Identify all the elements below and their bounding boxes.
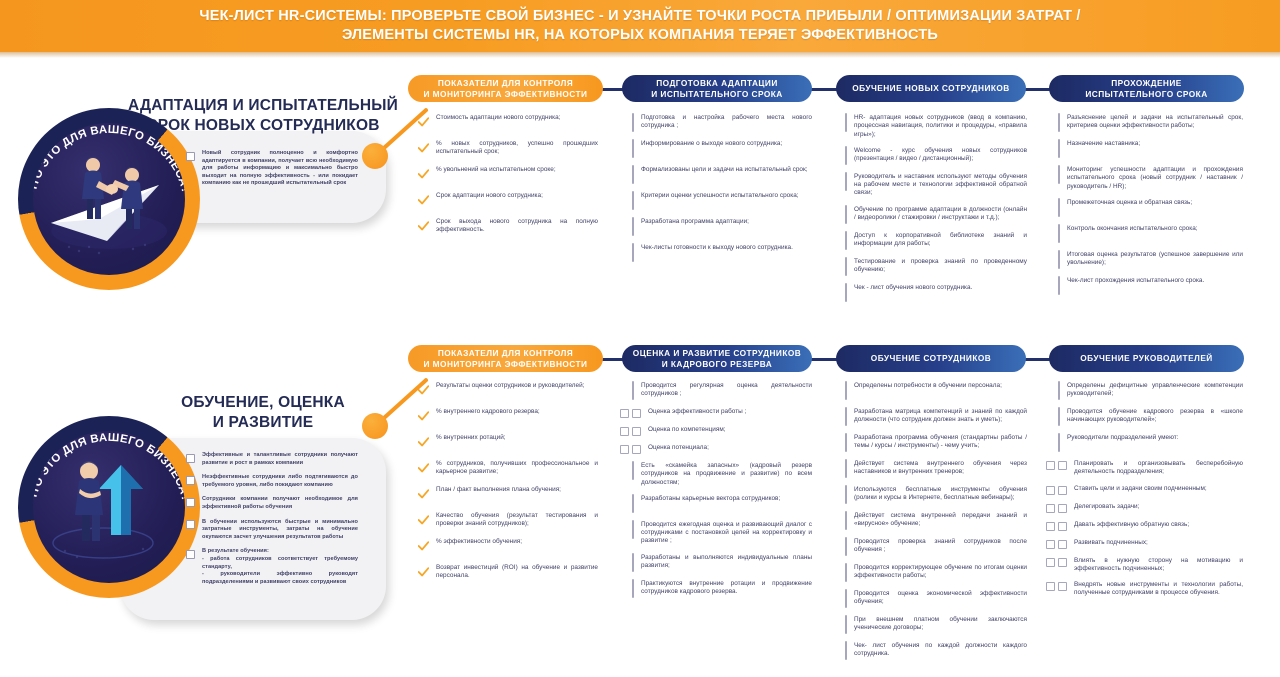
checkbox-icon[interactable] (1046, 522, 1055, 531)
checkbox-icon[interactable] (845, 205, 847, 224)
checklist-item-label: Планировать и организовывать бесперебойн… (1074, 460, 1243, 477)
checkbox-icon[interactable] (845, 460, 847, 478)
checkbox-icon[interactable] (1058, 408, 1060, 426)
checkbox-icon[interactable] (186, 550, 195, 559)
check-icon (418, 437, 429, 447)
summary-text: В результате обучения: - работа сотрудни… (202, 548, 358, 586)
checkbox-pair-icon[interactable] (620, 444, 641, 454)
checkbox-icon[interactable] (1058, 461, 1067, 470)
list-item[interactable]: Эффективные и талантливые сотрудники пол… (186, 452, 358, 467)
checklist-item-label: Влиять в нужную сторону на мотивацию и э… (1074, 557, 1243, 574)
checklist-item[interactable]: Разработана программа обучения (стандарт… (845, 434, 1027, 452)
checkbox-icon[interactable] (1058, 522, 1067, 531)
checklist-item[interactable]: Определены потребности в обучении персон… (845, 382, 1027, 400)
list-item[interactable]: Сотрудники компании получают необходимое… (186, 496, 358, 511)
checklist-item[interactable]: Планировать и организовывать бесперебойн… (1046, 460, 1243, 477)
checkbox-icon[interactable] (632, 495, 634, 513)
checklist-item-label: % внутреннего кадрового резерва; (436, 408, 540, 416)
checkbox-icon[interactable] (845, 434, 847, 452)
checkbox-icon[interactable] (632, 521, 634, 539)
checkbox-icon[interactable] (632, 554, 634, 572)
checkbox-icon[interactable] (845, 408, 847, 426)
column-header-assessment: ОЦЕНКА И РАЗВИТИЕ СОТРУДНИКОВ И КАДРОВОГ… (622, 345, 812, 372)
checklist-item[interactable]: Ставить цели и задачи своим подчиненным; (1046, 485, 1243, 495)
checklist-item-label: Оценка эффективности работы ; (648, 408, 746, 416)
checklist-column-employee-training: Определены потребности в обучении персон… (845, 382, 1027, 668)
checkbox-pair-icon[interactable] (1046, 581, 1067, 591)
checklist-item[interactable]: Разработаны карьерные вектора сотруднико… (632, 495, 812, 513)
checklist-item[interactable]: HR- адаптация новых сотрудников (ввод в … (845, 114, 1027, 139)
checkbox-icon[interactable] (845, 642, 847, 660)
header-line-1: ПОКАЗАТЕЛИ ДЛЯ КОНТРОЛЯ (424, 78, 588, 89)
checklist-item[interactable]: Есть «скамейка запасных» (кадровый резер… (632, 462, 812, 487)
checkbox-icon[interactable] (1058, 504, 1067, 513)
checkbox-icon[interactable] (845, 485, 847, 504)
checklist-item[interactable]: При внешнем платном обучении заключаются… (845, 616, 1027, 634)
checkbox-icon[interactable] (845, 407, 847, 426)
checklist-item-label: Оценка по компетенциям; (648, 426, 726, 434)
header-line-1: ОБУЧЕНИЕ СОТРУДНИКОВ (871, 353, 991, 364)
handshake-illustration-icon (33, 123, 185, 275)
checkbox-icon[interactable] (1058, 198, 1060, 217)
checklist-item[interactable]: Чек - лист обучения нового сотрудника. (845, 284, 1027, 302)
checklist-item[interactable]: Оценка эффективности работы ; (620, 408, 812, 418)
header-line-1: ПРОХОЖДЕНИЕ (1085, 78, 1207, 89)
checklist-item-label: Контроль окончания испытательного срока; (1067, 225, 1198, 233)
checklist-item[interactable]: Welcome - курс обучения новых сотруднико… (845, 147, 1027, 165)
checkbox-icon[interactable] (1058, 277, 1060, 295)
checkbox-icon[interactable] (620, 445, 629, 454)
checklist-item-label: Делегировать задачи; (1074, 503, 1139, 511)
checklist-item-label: Назначение наставника; (1067, 140, 1140, 148)
checklist-item[interactable]: Проводится проверка знаний сотрудников п… (845, 538, 1027, 556)
checkbox-icon[interactable] (632, 461, 634, 480)
checklist-item[interactable]: Назначение наставника; (1058, 140, 1243, 158)
check-icon[interactable] (418, 218, 429, 236)
checkbox-icon[interactable] (1058, 251, 1060, 269)
checkbox-icon[interactable] (632, 139, 634, 158)
checklist-item-label: Проводится оценка экономической эффектив… (854, 590, 1027, 607)
checkbox-pair-icon[interactable] (1046, 485, 1067, 495)
checkbox-icon[interactable] (1058, 224, 1060, 243)
checkbox-icon[interactable] (845, 486, 847, 504)
checklist-item[interactable]: % увольнений на испытательном сроке; (418, 166, 598, 184)
checkbox-icon[interactable] (1058, 166, 1060, 184)
header-line-1: ОЦЕНКА И РАЗВИТИЕ СОТРУДНИКОВ (633, 348, 801, 359)
checklist-item-label: % сотрудников, получивших профессиональн… (436, 460, 598, 477)
checkbox-icon[interactable] (1058, 199, 1060, 217)
checklist-item-label: Чек-лист прохождения испытательного срок… (1067, 277, 1204, 285)
checklist-item[interactable]: Критерии оценки успешности испытательног… (632, 192, 812, 210)
checkbox-icon[interactable] (632, 462, 634, 480)
checklist-item[interactable]: Разработана программа адаптации; (632, 218, 812, 236)
checklist-item[interactable]: Результаты оценки сотрудников и руководи… (418, 382, 598, 400)
checkbox-icon[interactable] (845, 206, 847, 224)
checklist-column-assessment: Проводится регулярная оценка деятельност… (632, 382, 812, 606)
checkbox-icon[interactable] (845, 232, 847, 250)
checklist-item-label: Проводится регулярная оценка деятельност… (641, 382, 812, 399)
checkbox-icon[interactable] (1058, 381, 1060, 400)
checklist-item[interactable]: Контроль окончания испытательного срока; (1058, 225, 1243, 243)
checkbox-icon[interactable] (632, 520, 634, 539)
checklist-item[interactable]: Обучение по программе адаптации в должно… (845, 206, 1027, 224)
checklist-item-label: Действует система внутреннего обучения ч… (854, 460, 1027, 477)
checkbox-icon[interactable] (1058, 558, 1067, 567)
checkbox-icon[interactable] (186, 152, 195, 161)
checkbox-icon[interactable] (1046, 540, 1055, 549)
column-header-manager-training: ОБУЧЕНИЕ РУКОВОДИТЕЛЕЙ (1049, 345, 1244, 372)
checkbox-icon[interactable] (845, 114, 847, 132)
checkbox-icon[interactable] (1058, 165, 1060, 184)
check-icon[interactable] (418, 460, 429, 478)
checklist-item-label: % эффективности обучения; (436, 538, 522, 546)
badge-inner: ЧТО ЭТО ДЛЯ ВАШЕГО БИЗНЕСА? ОБЛАСТЬ РОСТ… (33, 123, 185, 275)
checklist-item-label: Руководители подразделений умеют: (1067, 434, 1179, 442)
badge-profit-growth-development: ЧТО ЭТО ДЛЯ ВАШЕГО БИЗНЕСА? ОБЛАСТЬ РОСТ… (18, 416, 200, 598)
checklist-item-label: План / факт выполнения плана обучения; (436, 486, 561, 494)
checkbox-icon[interactable] (632, 494, 634, 513)
checkbox-icon[interactable] (1046, 558, 1055, 567)
checklist-item[interactable]: План / факт выполнения плана обучения; (418, 486, 598, 504)
checkbox-icon[interactable] (632, 165, 634, 184)
list-item[interactable]: В результате обучения: - работа сотрудни… (186, 548, 358, 586)
checkbox-icon[interactable] (845, 284, 847, 302)
checkbox-icon[interactable] (845, 231, 847, 250)
checklist-item[interactable]: Делегировать задачи; (1046, 503, 1243, 513)
checklist-item[interactable]: Действует система внутренней передачи зн… (845, 512, 1027, 530)
checklist-item-label: Подготовка и настройка рабочего места но… (641, 114, 812, 131)
checkbox-icon[interactable] (632, 113, 634, 132)
check-icon (418, 463, 429, 473)
checkbox-icon[interactable] (1058, 139, 1060, 158)
checkbox-icon[interactable] (1058, 225, 1060, 243)
checklist-item[interactable]: Подготовка и настройка рабочего места но… (632, 114, 812, 132)
checkbox-pair-icon[interactable] (1046, 460, 1067, 470)
checklist-item-label: Итоговая оценка результатов (успешное за… (1067, 251, 1243, 268)
checklist-item[interactable]: % внутреннего кадрового резерва; (418, 408, 598, 426)
checklist-item-label: Чек - лист обучения нового сотрудника. (854, 284, 972, 292)
checklist-item[interactable]: Срок адаптации нового сотрудника; (418, 192, 598, 210)
checkbox-icon[interactable] (1058, 140, 1060, 158)
column-header-probation: ПРОХОЖДЕНИЕ ИСПЫТАТЕЛЬНОГО СРОКА (1049, 75, 1244, 102)
checkbox-icon[interactable] (186, 520, 195, 529)
banner-line-1: ЧЕК-ЛИСТ HR-СИСТЕМЫ: ПРОВЕРЬТЕ СВОЙ БИЗН… (65, 7, 1215, 26)
checklist-item-label: Оценка потенциала; (648, 444, 709, 452)
checklist-item[interactable]: Руководители подразделений умеют: (1058, 434, 1243, 452)
checkbox-pair-icon[interactable] (620, 426, 641, 436)
checkbox-icon[interactable] (632, 191, 634, 210)
checklist-item[interactable]: Действует система внутреннего обучения ч… (845, 460, 1027, 478)
checklist-item[interactable]: Мониторинг успешности адаптации и прохож… (1058, 166, 1243, 191)
check-icon (418, 515, 429, 525)
checkbox-icon[interactable] (845, 616, 847, 634)
checkbox-icon[interactable] (1058, 434, 1060, 452)
checkbox-icon[interactable] (632, 580, 634, 598)
check-icon[interactable] (418, 192, 429, 210)
checklist-column-training-new: HR- адаптация новых сотрудников (ввод в … (845, 114, 1027, 310)
checkbox-icon[interactable] (845, 382, 847, 400)
checkbox-icon[interactable] (620, 427, 629, 436)
checkbox-icon[interactable] (632, 217, 634, 236)
checklist-item[interactable]: Проводится обучение кадрового резерва в … (1058, 408, 1243, 426)
check-icon (418, 489, 429, 499)
checklist-item-label: Качество обучения (результат тестировани… (436, 512, 598, 529)
checklist-item-label: Проводится обучение кадрового резерва в … (1067, 408, 1243, 425)
checklist-item[interactable]: Формализованы цели и задачи на испытател… (632, 166, 812, 184)
checklist-column-probation: Разъяснение целей и задачи на испытатель… (1058, 114, 1243, 303)
checklist-item-label: Срок выхода нового сотрудника на полную … (436, 218, 598, 235)
banner-line-2: ЭЛЕМЕНТЫ СИСТЕМЫ HR, НА КОТОРЫХ КОМПАНИЯ… (65, 26, 1215, 45)
check-icon[interactable] (418, 538, 429, 556)
checkbox-icon[interactable] (845, 589, 847, 608)
header-line-2: ИСПЫТАТЕЛЬНОГО СРОКА (1085, 89, 1207, 100)
checkbox-icon[interactable] (1058, 382, 1060, 400)
checkbox-icon[interactable] (1046, 582, 1055, 591)
checklist-item-label: Руководитель и наставник используют мето… (854, 173, 1027, 198)
check-icon (418, 143, 429, 153)
checklist-item-label: Доступ к корпоративной библиотеке знаний… (854, 232, 1027, 249)
checkbox-icon[interactable] (632, 218, 634, 236)
check-icon (418, 169, 429, 179)
checklist-item[interactable]: Стоимость адаптации нового сотрудника; (418, 114, 598, 132)
banner-text: ЧЕК-ЛИСТ HR-СИСТЕМЫ: ПРОВЕРЬТЕ СВОЙ БИЗН… (65, 7, 1215, 45)
checkbox-icon[interactable] (632, 166, 634, 184)
checklist-item[interactable]: Разъяснение целей и задачи на испытатель… (1058, 114, 1243, 132)
list-item[interactable]: В обучении используются быстрые и минима… (186, 519, 358, 542)
checkbox-icon[interactable] (1058, 433, 1060, 452)
banner-shadow (0, 52, 1280, 58)
checklist-item[interactable]: Определены дефицитные управленческие ком… (1058, 382, 1243, 400)
checkbox-icon[interactable] (845, 283, 847, 302)
checklist-item[interactable]: Итоговая оценка результатов (успешное за… (1058, 251, 1243, 269)
header-line-2: И ИСПЫТАТЕЛЬНОГО СРОКА (651, 89, 782, 100)
checkbox-icon[interactable] (632, 243, 634, 262)
column-header-kpi-adaptation: ПОКАЗАТЕЛИ ДЛЯ КОНТРОЛЯ И МОНИТОРИНГА ЭФ… (408, 75, 603, 102)
check-icon[interactable] (418, 140, 429, 158)
checklist-item[interactable]: Практикуются внутренние ротации и продви… (632, 580, 812, 598)
checklist-item[interactable]: Разработаны и выполняются индивидуальные… (632, 554, 812, 572)
list-item[interactable]: Новый сотрудник полноценно и комфортно а… (186, 150, 358, 188)
checklist-item-label: Срок адаптации нового сотрудника; (436, 192, 543, 200)
checkbox-icon[interactable] (632, 140, 634, 158)
checkbox-icon[interactable] (845, 433, 847, 452)
checkbox-icon[interactable] (845, 173, 847, 191)
checkbox-icon[interactable] (845, 258, 847, 276)
checklist-item[interactable]: Чек-лист прохождения испытательного срок… (1058, 277, 1243, 295)
checkbox-icon[interactable] (845, 146, 847, 165)
checkbox-icon[interactable] (845, 381, 847, 400)
checklist-item[interactable]: % эффективности обучения; (418, 538, 598, 556)
checklist-item-label: Тестирование и проверка знаний по провед… (854, 258, 1027, 275)
header-line-1: ПОДГОТОВКА АДАПТАЦИИ (651, 78, 782, 89)
checklist-column-manager-training: Определены дефицитные управленческие ком… (1058, 382, 1243, 606)
checkbox-icon[interactable] (632, 553, 634, 572)
column-header-employee-training: ОБУЧЕНИЕ СОТРУДНИКОВ (836, 345, 1026, 372)
checkbox-icon[interactable] (632, 445, 641, 454)
checkbox-icon[interactable] (1058, 113, 1060, 132)
checklist-item-label: Ставить цели и задачи своим подчиненным; (1074, 485, 1207, 493)
checkbox-icon[interactable] (620, 409, 629, 418)
column-header-preparation: ПОДГОТОВКА АДАПТАЦИИ И ИСПЫТАТЕЛЬНОГО СР… (622, 75, 812, 102)
summary-text: Неэффективные сотрудники либо подтягиваю… (202, 474, 358, 489)
checklist-item-label: HR- адаптация новых сотрудников (ввод в … (854, 114, 1027, 139)
checklist-item[interactable]: Разработана матрица компетенций и знаний… (845, 408, 1027, 426)
check-icon[interactable] (418, 166, 429, 184)
checkbox-icon[interactable] (845, 615, 847, 634)
check-icon[interactable] (418, 486, 429, 504)
checklist-item[interactable]: Качество обучения (результат тестировани… (418, 512, 598, 530)
checklist-item-label: Результаты оценки сотрудников и руководи… (436, 382, 585, 390)
checkbox-pair-icon[interactable] (1046, 521, 1067, 531)
checklist-item-label: При внешнем платном обучении заключаются… (854, 616, 1027, 633)
checkbox-icon[interactable] (632, 382, 634, 400)
checkbox-icon[interactable] (632, 244, 634, 262)
check-icon[interactable] (418, 512, 429, 530)
checkbox-icon[interactable] (845, 538, 847, 556)
checkbox-icon[interactable] (845, 537, 847, 556)
checkbox-icon[interactable] (845, 564, 847, 582)
checklist-item[interactable]: Руководитель и наставник используют мето… (845, 173, 1027, 198)
checklist-item[interactable]: Развивать подчиненных; (1046, 539, 1243, 549)
checklist-item[interactable]: Внедрять новые инструменты и технологии … (1046, 581, 1243, 598)
checkbox-icon[interactable] (845, 511, 847, 530)
checklist-item-label: Давать эффективную обратную связь; (1074, 521, 1189, 529)
checkbox-icon[interactable] (186, 476, 195, 485)
checklist-item-label: Проводится корректирующее обучение по ит… (854, 564, 1027, 581)
pill-connector-2 (808, 88, 838, 91)
list-item[interactable]: Неэффективные сотрудники либо подтягиваю… (186, 474, 358, 489)
summary-text: В обучении используются быстрые и минима… (202, 519, 358, 542)
checklist-column-preparation: Подготовка и настройка рабочего места но… (632, 114, 812, 270)
checkbox-icon[interactable] (1058, 582, 1067, 591)
checklist-item[interactable]: Промежеточная оценка и обратная связь; (1058, 199, 1243, 217)
checklist-item-label: Промежеточная оценка и обратная связь; (1067, 199, 1192, 207)
check-icon (418, 411, 429, 421)
checklist-item-label: Разработана программа адаптации; (641, 218, 749, 226)
checkbox-icon[interactable] (632, 579, 634, 598)
checklist-item[interactable]: Срок выхода нового сотрудника на полную … (418, 218, 598, 236)
checkbox-icon[interactable] (845, 113, 847, 132)
connector-node-adaptation (362, 143, 388, 169)
checkbox-pair-icon[interactable] (1046, 539, 1067, 549)
header-line-2: И МОНИТОРИНГА ЭФФЕКТИВНОСТИ (424, 89, 588, 100)
checklist-item[interactable]: Доступ к корпоративной библиотеке знаний… (845, 232, 1027, 250)
check-icon (418, 541, 429, 551)
growth-arrow-illustration-icon (33, 431, 185, 583)
checklist-item-label: % новых сотрудников, успешно прошедших и… (436, 140, 598, 157)
checklist-item-label: Разработаны и выполняются индивидуальные… (641, 554, 812, 571)
checklist-item-label: Критерии оценки успешности испытательног… (641, 192, 799, 200)
check-icon[interactable] (418, 564, 429, 582)
header-line-1: ПОКАЗАТЕЛИ ДЛЯ КОНТРОЛЯ (424, 348, 588, 359)
checklist-item[interactable]: Проводится корректирующее обучение по ит… (845, 564, 1027, 582)
checkbox-icon[interactable] (845, 641, 847, 660)
summary-list-development: Эффективные и талантливые сотрудники пол… (186, 452, 358, 593)
checkbox-icon[interactable] (632, 427, 641, 436)
checklist-item-label: Возврат инвестиций (ROI) на обучение и р… (436, 564, 598, 581)
checkbox-pair-icon[interactable] (620, 408, 641, 418)
checklist-item-label: Есть «скамейка запасных» (кадровый резер… (641, 462, 812, 487)
checkbox-pair-icon[interactable] (1046, 557, 1067, 567)
checkbox-icon[interactable] (845, 257, 847, 276)
checkbox-icon[interactable] (845, 512, 847, 530)
checklist-item[interactable]: Возврат инвестиций (ROI) на обучение и р… (418, 564, 598, 582)
checklist-item[interactable]: Оценка потенциала; (620, 444, 812, 454)
checkbox-icon[interactable] (632, 192, 634, 210)
checkbox-icon[interactable] (1058, 250, 1060, 269)
checklist-item[interactable]: Информирование о выходе нового сотрудник… (632, 140, 812, 158)
column-header-kpi-development: ПОКАЗАТЕЛИ ДЛЯ КОНТРОЛЯ И МОНИТОРИНГА ЭФ… (408, 345, 603, 372)
badge-profit-growth-adaptation: ЧТО ЭТО ДЛЯ ВАШЕГО БИЗНЕСА? ОБЛАСТЬ РОСТ… (18, 108, 200, 290)
header-line-2: И МОНИТОРИНГА ЭФФЕКТИВНОСТИ (424, 359, 588, 370)
checklist-item-label: % внутренних ротаций; (436, 434, 506, 442)
checkbox-icon[interactable] (1046, 504, 1055, 513)
check-icon[interactable] (418, 434, 429, 452)
checklist-item-label: Действует система внутренней передачи зн… (854, 512, 1027, 529)
checklist-item[interactable]: Оценка по компетенциям; (620, 426, 812, 436)
check-icon (418, 221, 429, 231)
checkbox-icon[interactable] (845, 563, 847, 582)
checklist-item-label: Практикуются внутренние ротации и продви… (641, 580, 812, 597)
checklist-column-kpi-development: Результаты оценки сотрудников и руководи… (418, 382, 598, 590)
column-header-training-new: ОБУЧЕНИЕ НОВЫХ СОТРУДНИКОВ (836, 75, 1026, 102)
checklist-item[interactable]: % внутренних ротаций; (418, 434, 598, 452)
checklist-item[interactable]: Давать эффективную обратную связь; (1046, 521, 1243, 531)
pill-connector-5 (808, 358, 838, 361)
badge-inner: ЧТО ЭТО ДЛЯ ВАШЕГО БИЗНЕСА? ОБЛАСТЬ РОСТ… (33, 431, 185, 583)
checkbox-icon[interactable] (845, 590, 847, 608)
checklist-item[interactable]: Влиять в нужную сторону на мотивацию и э… (1046, 557, 1243, 574)
checkbox-icon[interactable] (845, 459, 847, 478)
checkbox-icon[interactable] (186, 498, 195, 507)
checkbox-icon[interactable] (1058, 486, 1067, 495)
checkbox-icon[interactable] (845, 172, 847, 191)
checkbox-icon[interactable] (845, 147, 847, 165)
checklist-item[interactable]: Проводится регулярная оценка деятельност… (632, 382, 812, 400)
checklist-item[interactable]: Используются бесплатные инструменты обуч… (845, 486, 1027, 504)
checklist-item-label: Развивать подчиненных; (1074, 539, 1148, 547)
check-icon[interactable] (418, 408, 429, 426)
checkbox-icon[interactable] (1058, 540, 1067, 549)
checkbox-icon[interactable] (632, 409, 641, 418)
checklist-item[interactable]: % сотрудников, получивших профессиональн… (418, 460, 598, 478)
checkbox-icon[interactable] (186, 454, 195, 463)
checklist-item[interactable]: Чек- лист обучения по каждой должности к… (845, 642, 1027, 660)
summary-list-adaptation: Новый сотрудник полноценно и комфортно а… (186, 150, 358, 195)
checklist-item-label: Мониторинг успешности адаптации и прохож… (1067, 166, 1243, 191)
checklist-item[interactable]: Проводится оценка экономической эффектив… (845, 590, 1027, 608)
check-icon (418, 195, 429, 205)
checkbox-icon[interactable] (1058, 407, 1060, 426)
checklist-item[interactable]: Проводится ежегодная оценка и развивающи… (632, 521, 812, 546)
checklist-item-label: Чек-листы готовности к выходу нового сот… (641, 244, 793, 252)
section-title-development-line1: ОБУЧЕНИЕ, ОЦЕНКА (128, 393, 398, 413)
checkbox-pair-icon[interactable] (1046, 503, 1067, 513)
checklist-item[interactable]: Чек-листы готовности к выходу нового сот… (632, 244, 812, 262)
checkbox-icon[interactable] (1046, 461, 1055, 470)
checklist-item[interactable]: % новых сотрудников, успешно прошедших и… (418, 140, 598, 158)
checklist-item-label: Внедрять новые инструменты и технологии … (1074, 581, 1243, 598)
checkbox-icon[interactable] (1046, 486, 1055, 495)
checklist-item[interactable]: Тестирование и проверка знаний по провед… (845, 258, 1027, 276)
checklist-item-label: Разработана матрица компетенций и знаний… (854, 408, 1027, 425)
checkbox-icon[interactable] (1058, 276, 1060, 295)
checklist-item-label: Проводится проверка знаний сотрудников п… (854, 538, 1027, 555)
checkbox-icon[interactable] (632, 114, 634, 132)
checkbox-icon[interactable] (1058, 114, 1060, 132)
checkbox-icon[interactable] (632, 381, 634, 400)
summary-text: Эффективные и талантливые сотрудники пол… (202, 452, 358, 467)
